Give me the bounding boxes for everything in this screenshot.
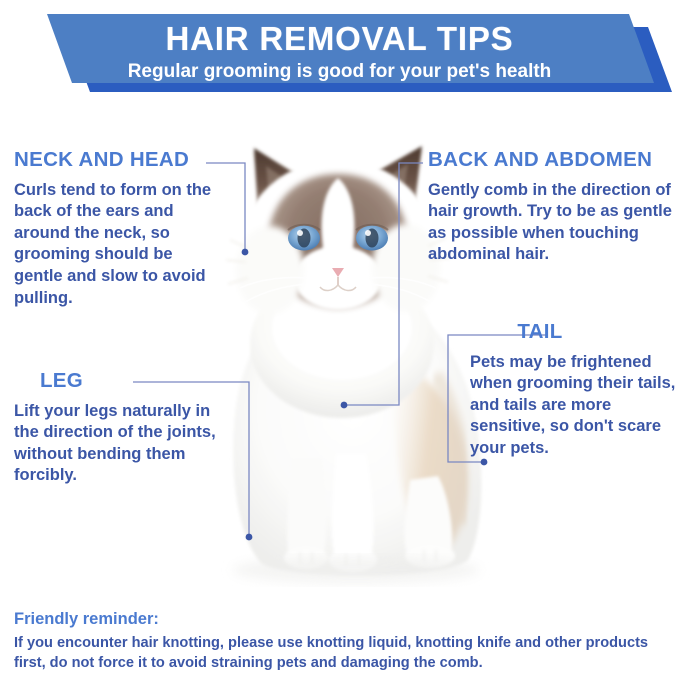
callout-leg: LEG Lift your legs naturally in the dire… — [14, 371, 229, 487]
infographic-page: HAIR REMOVAL TIPS Regular grooming is go… — [0, 0, 679, 679]
cat-shadow — [232, 556, 480, 584]
callout-tail: TAIL Pets may be frightened when groomin… — [470, 322, 676, 460]
callout-neck-and-head: NECK AND HEAD Curls tend to form on the … — [14, 150, 224, 309]
banner-title: HAIR REMOVAL TIPS — [0, 22, 679, 55]
callout-body-neck-and-head: Curls tend to form on the back of the ea… — [14, 180, 224, 310]
header-banner: HAIR REMOVAL TIPS Regular grooming is go… — [0, 0, 679, 100]
callout-back-and-abdomen: BACK AND ABDOMEN Gently comb in the dire… — [428, 150, 676, 266]
callout-body-tail: Pets may be frightened when grooming the… — [470, 352, 676, 460]
callout-heading-back-and-abdomen: BACK AND ABDOMEN — [428, 150, 676, 171]
callout-heading-leg: LEG — [14, 371, 229, 392]
callout-body-back-and-abdomen: Gently comb in the direction of hair gro… — [428, 180, 676, 266]
friendly-reminder: Friendly reminder: If you encounter hair… — [14, 609, 669, 673]
callout-heading-tail: TAIL — [470, 322, 676, 343]
callout-heading-neck-and-head: NECK AND HEAD — [14, 150, 224, 171]
cat-head — [226, 146, 450, 332]
friendly-reminder-body: If you encounter hair knotting, please u… — [14, 633, 669, 673]
banner-subtitle: Regular grooming is good for your pet's … — [0, 62, 679, 81]
friendly-reminder-title: Friendly reminder: — [14, 609, 669, 630]
callout-body-leg: Lift your legs naturally in the directio… — [14, 401, 229, 487]
